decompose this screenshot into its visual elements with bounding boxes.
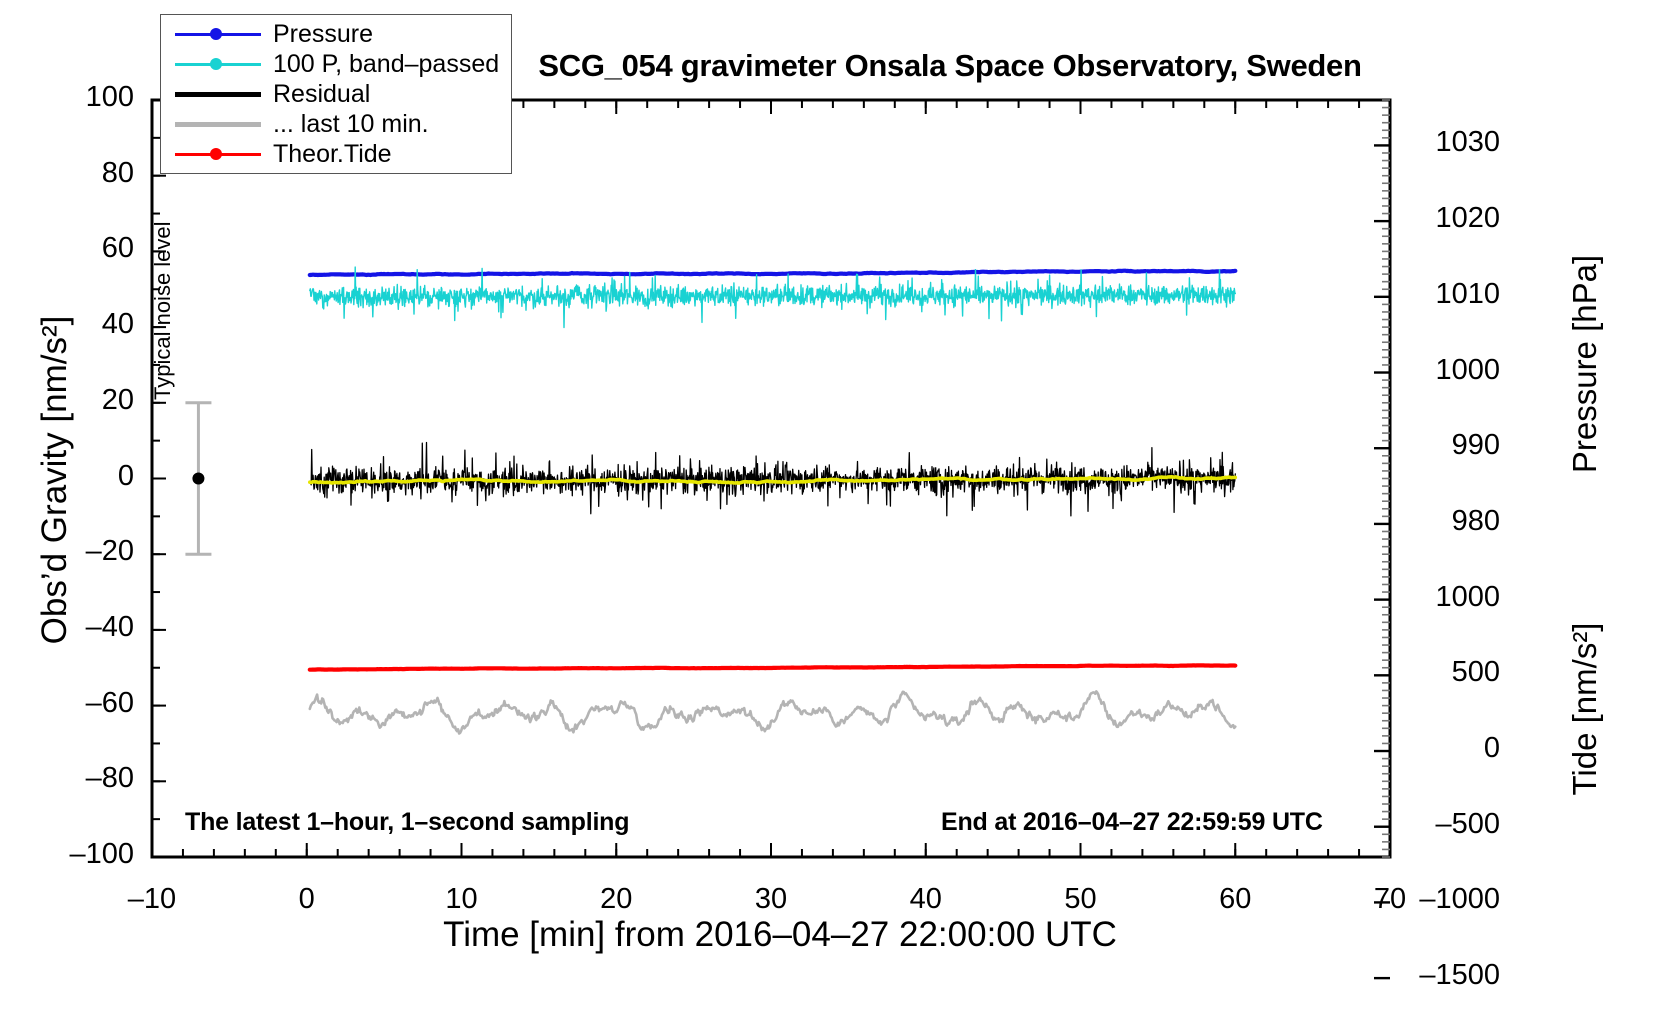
legend-line-icon [175, 92, 261, 97]
y-tick-label: 20 [2, 384, 134, 417]
y-tick-label: 60 [2, 232, 134, 265]
legend-item[interactable]: Theor.Tide [161, 139, 511, 169]
y-tick-label: 100 [2, 81, 134, 114]
legend-label: Residual [273, 80, 370, 109]
legend-label: Pressure [273, 20, 373, 49]
x-tick-label: 0 [247, 883, 367, 916]
legend-swatch [175, 79, 261, 109]
tide-tick-label: 1000 [1408, 581, 1500, 614]
y-tick-label: 0 [2, 460, 134, 493]
pressure-tick-label: 1010 [1408, 278, 1500, 311]
tide-tick-label: –1500 [1408, 959, 1500, 992]
y-tick-label: 80 [2, 157, 134, 190]
legend-line-icon [175, 122, 261, 127]
annotation-end-time: End at 2016–04–27 22:59:59 UTC [941, 808, 1323, 837]
x-tick-label: 10 [402, 883, 522, 916]
legend-label: ... last 10 min. [273, 110, 429, 139]
y-tick-label: –40 [2, 611, 134, 644]
legend-dot-icon [210, 58, 222, 70]
series-line-theor-tide [310, 665, 1236, 669]
y-tick-label: –60 [2, 687, 134, 720]
legend-dot-icon [210, 28, 222, 40]
legend-item[interactable]: Residual [161, 79, 511, 109]
x-tick-label: 60 [1175, 883, 1295, 916]
legend-item[interactable]: ... last 10 min. [161, 109, 511, 139]
series-line-last-10-min [310, 691, 1236, 733]
y-tick-label: –80 [2, 762, 134, 795]
x-tick-label: –10 [92, 883, 212, 916]
tide-tick-label: 0 [1408, 732, 1500, 765]
pressure-tick-label: 1000 [1408, 354, 1500, 387]
legend-swatch [175, 19, 261, 49]
noise-bar-center-dot [192, 473, 204, 485]
legend-swatch [175, 139, 261, 169]
series-line-pressure [310, 271, 1236, 275]
x-tick-label: 30 [711, 883, 831, 916]
legend-label: 100 P, band–passed [273, 50, 499, 79]
pressure-tick-label: 990 [1408, 429, 1500, 462]
pressure-tick-label: 980 [1408, 505, 1500, 538]
pressure-tick-label: 1030 [1408, 126, 1500, 159]
legend-item[interactable]: 100 P, band–passed [161, 49, 511, 79]
x-tick-label: 50 [1021, 883, 1141, 916]
x-tick-label: 20 [556, 883, 676, 916]
chart-title: SCG_054 gravimeter Onsala Space Observat… [520, 48, 1380, 84]
gravimeter-chart-page: SCG_054 gravimeter Onsala Space Observat… [0, 0, 1660, 1020]
y-tick-label: –20 [2, 535, 134, 568]
series-line-residual-smoothed [310, 477, 1236, 483]
pressure-tick-label: 1020 [1408, 202, 1500, 235]
legend-dot-icon [210, 148, 222, 160]
tide-tick-label: 500 [1408, 656, 1500, 689]
x-tick-label: 40 [866, 883, 986, 916]
tide-tick-label: –1000 [1408, 883, 1500, 916]
annotation-sampling: The latest 1–hour, 1–second sampling [185, 808, 629, 837]
y-tick-label: –100 [2, 838, 134, 871]
legend-label: Theor.Tide [273, 140, 392, 169]
y-axis-label-tide: Tide [nm/s²] [1566, 499, 1604, 919]
legend-item[interactable]: Pressure [161, 19, 511, 49]
legend-swatch [175, 49, 261, 79]
x-axis-label: Time [min] from 2016–04–27 22:00:00 UTC [180, 915, 1380, 955]
legend: Pressure100 P, band–passedResidual... la… [160, 14, 512, 174]
legend-swatch [175, 109, 261, 139]
tide-tick-label: –500 [1408, 808, 1500, 841]
y-tick-label: 40 [2, 308, 134, 341]
noise-level-label: Typical noise level [150, 140, 176, 400]
